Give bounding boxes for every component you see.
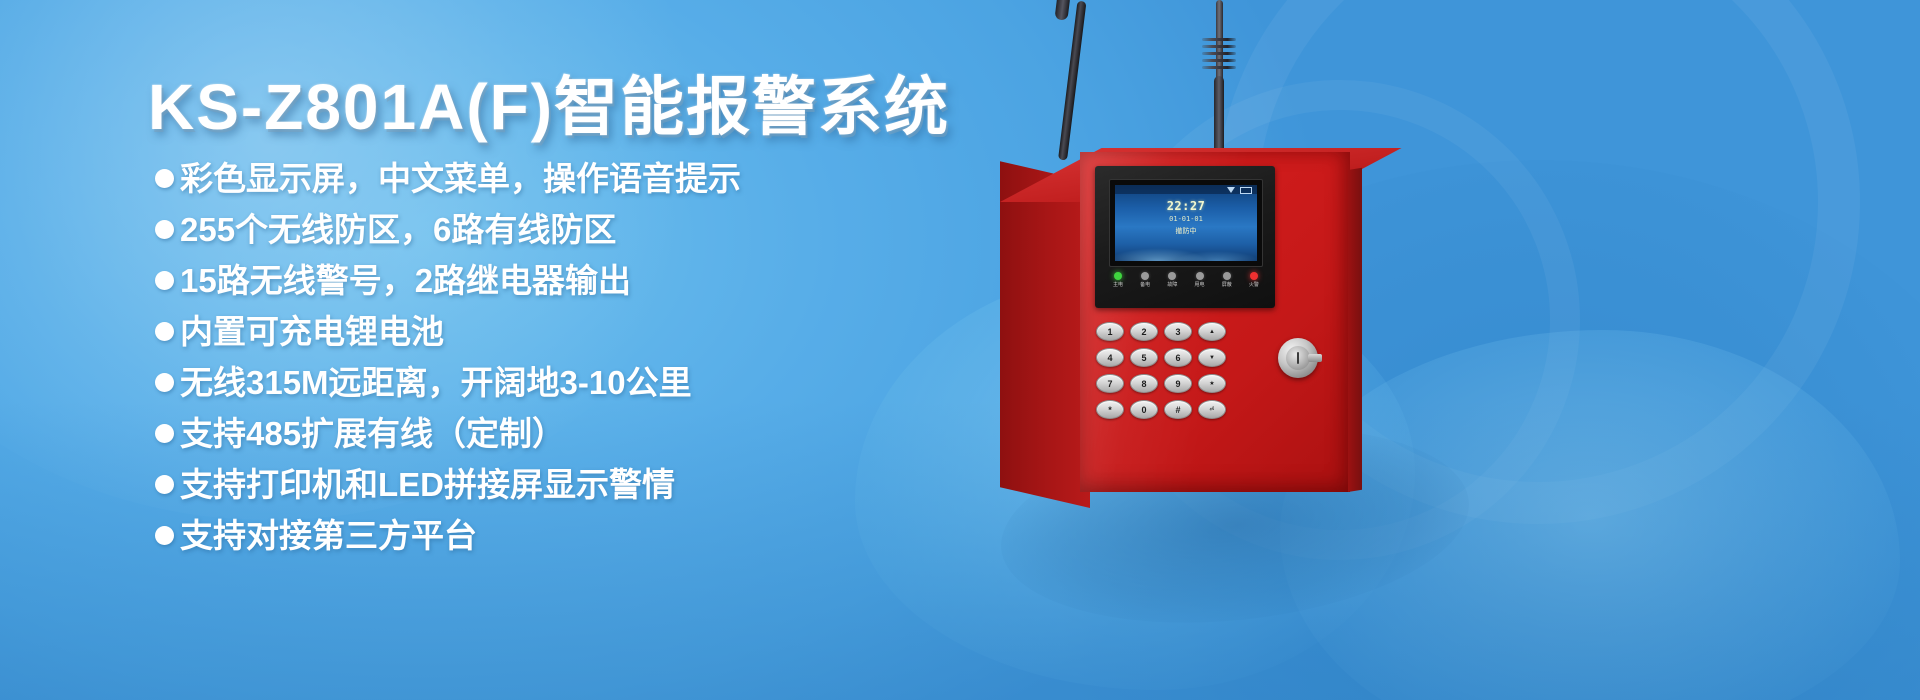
keypad-key[interactable]: 3 [1164,322,1192,341]
whip-antenna-left-icon [1058,1,1086,161]
product-banner: KS-Z801A(F)智能报警系统 彩色显示屏，中文菜单，操作语音提示 255个… [0,0,1920,700]
signal-icon [1227,187,1235,193]
battery-icon [1240,187,1252,194]
enclosure-right-edge [1348,168,1362,492]
led-label: 主电 [1107,282,1129,288]
lcd-screen: 22:27 01-01-01 撤防中 [1115,185,1257,261]
led-dot-icon [1114,272,1122,280]
keypad-key[interactable]: 2 [1130,322,1158,341]
led-indicator: 屏蔽 [1216,272,1238,288]
list-item: 15路无线警号，2路继电器输出 [155,259,915,305]
led-dot-icon [1196,272,1204,280]
lcd-clock: 22:27 [1115,199,1257,213]
keypad-key[interactable]: 4 [1096,348,1124,367]
keypad[interactable]: 1 2 3 ▲ 4 5 6 ▼ 7 8 9 ★ * 0 # ⏎ [1096,322,1226,419]
list-item: 支持对接第三方平台 [155,514,915,560]
led-indicator: 故障 [1161,272,1183,288]
keypad-key-down[interactable]: ▼ [1198,348,1226,367]
whip-antenna-left-tip [1054,0,1070,21]
led-indicator: 甩电 [1189,272,1211,288]
text-column: KS-Z801A(F)智能报警系统 彩色显示屏，中文菜单，操作语音提示 255个… [0,0,960,700]
bullet-dot-icon [155,475,174,494]
led-indicator: 备电 [1134,272,1156,288]
feature-label: 15路无线警号，2路继电器输出 [180,259,631,303]
key-lock-tab [1308,354,1322,362]
key-lock-barrel [1286,346,1310,370]
lcd-date: 01-01-01 [1115,215,1257,223]
bullet-dot-icon [155,271,174,290]
led-dot-icon [1250,272,1258,280]
list-item: 内置可充电锂电池 [155,310,915,356]
bullet-dot-icon [155,373,174,392]
keypad-key-up[interactable]: ▲ [1198,322,1226,341]
lcd-status-bar [1115,185,1257,194]
led-dot-icon [1141,272,1149,280]
keypad-key[interactable]: 6 [1164,348,1192,367]
led-label: 火警 [1243,282,1265,288]
list-item: 支持打印机和LED拼接屏显示警情 [155,463,915,509]
feature-list: 彩色显示屏，中文菜单，操作语音提示 255个无线防区，6路有线防区 15路无线警… [155,157,915,565]
led-dot-icon [1223,272,1231,280]
keypad-key[interactable]: 7 [1096,374,1124,393]
feature-label: 支持打印机和LED拼接屏显示警情 [180,463,675,507]
coil-antenna-coil [1202,38,1236,76]
lcd-bezel: 22:27 01-01-01 撤防中 [1109,179,1263,267]
bullet-dot-icon [155,424,174,443]
keypad-key[interactable]: # [1164,400,1192,419]
list-item: 支持485扩展有线（定制） [155,412,915,458]
led-indicator: 主电 [1107,272,1129,288]
keypad-key[interactable]: 1 [1096,322,1124,341]
keypad-key-enter[interactable]: ⏎ [1198,400,1226,419]
feature-label: 内置可充电锂电池 [180,310,444,354]
bullet-dot-icon [155,322,174,341]
feature-label: 支持485扩展有线（定制） [180,412,565,456]
keypad-key[interactable]: 5 [1130,348,1158,367]
list-item: 无线315M远距离，开阔地3-10公里 [155,361,915,407]
enclosure-side-face [1000,161,1090,508]
led-label: 屏蔽 [1216,282,1238,288]
led-dot-icon [1168,272,1176,280]
page-title: KS-Z801A(F)智能报警系统 [148,56,950,148]
key-lock-icon[interactable] [1278,338,1318,378]
feature-label: 255个无线防区，6路有线防区 [180,208,616,252]
keypad-key[interactable]: * [1096,400,1124,419]
alarm-control-panel: 22:27 01-01-01 撤防中 主电 备电 故障 [940,0,1920,700]
keypad-key[interactable]: 0 [1130,400,1158,419]
keypad-key[interactable]: 9 [1164,374,1192,393]
feature-label: 彩色显示屏，中文菜单，操作语音提示 [180,157,741,201]
bullet-dot-icon [155,526,174,545]
led-label: 备电 [1134,282,1156,288]
key-lock-slot [1297,352,1299,364]
keypad-key[interactable]: 8 [1130,374,1158,393]
keypad-key-star[interactable]: ★ [1198,374,1226,393]
led-label: 甩电 [1189,282,1211,288]
list-item: 彩色显示屏，中文菜单，操作语音提示 [155,157,915,203]
bullet-dot-icon [155,220,174,239]
led-label: 故障 [1161,282,1183,288]
lcd-wallpaper-wave [1115,235,1257,261]
led-indicator-row: 主电 备电 故障 甩电 屏蔽 [1107,272,1265,288]
feature-label: 无线315M远距离，开阔地3-10公里 [180,361,692,405]
list-item: 255个无线防区，6路有线防区 [155,208,915,254]
control-panel-faceplate: 22:27 01-01-01 撤防中 主电 备电 故障 [1095,166,1275,308]
bullet-dot-icon [155,169,174,188]
led-indicator: 火警 [1243,272,1265,288]
feature-label: 支持对接第三方平台 [180,514,477,558]
